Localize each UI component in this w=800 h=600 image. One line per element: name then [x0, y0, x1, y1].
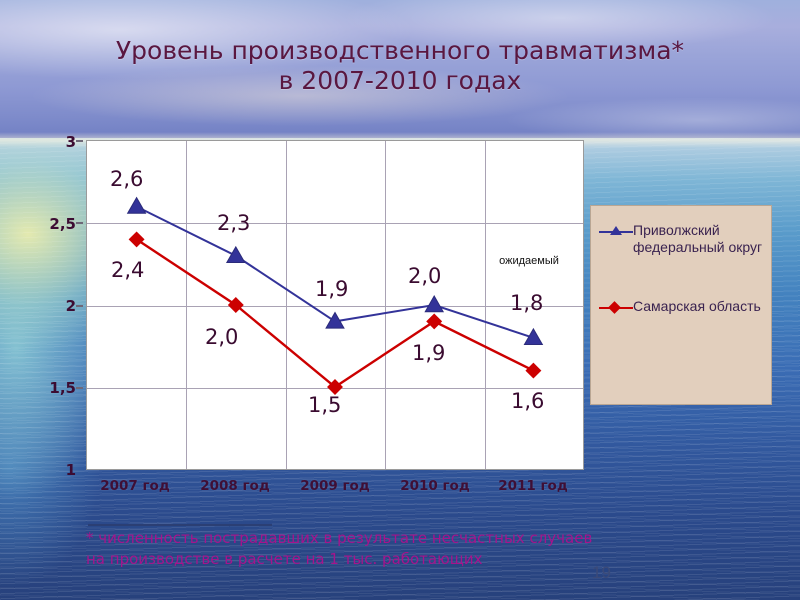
footnote-text: * численность пострадавших в результате …	[86, 528, 726, 570]
y-axis-label-2: 2	[16, 297, 76, 315]
legend-label-samarskaya: Самарская область	[633, 298, 761, 315]
annotation-expected: ожидаемый	[495, 255, 563, 268]
data-label-red-2007: 2,4	[111, 258, 144, 282]
slide-number: 19	[592, 563, 611, 583]
y-tick-2	[76, 305, 83, 307]
footnote-divider	[88, 524, 272, 526]
series-markers-privolzhsky	[128, 198, 543, 345]
data-label-blue-2011: 1,8	[510, 291, 543, 315]
y-tick-2.5	[76, 222, 83, 224]
y-tick-1.5	[76, 387, 83, 389]
x-axis-label-2008: 2008 год	[180, 478, 290, 494]
y-axis-label-3: 3	[16, 133, 76, 151]
legend-item-samarskaya: Самарская область	[599, 298, 763, 317]
y-axis-label-2.5: 2,5	[16, 215, 76, 233]
chart-series-svg	[87, 141, 583, 469]
data-label-red-2009: 1,5	[308, 393, 341, 417]
data-label-red-2008: 2,0	[205, 325, 238, 349]
x-axis-label-2007: 2007 год	[80, 478, 190, 494]
y-tick-3	[76, 140, 83, 142]
x-axis-label-2009: 2009 год	[280, 478, 390, 494]
data-label-red-2010: 1,9	[412, 341, 445, 365]
y-axis-label-1: 1	[16, 461, 76, 479]
data-label-blue-2009: 1,9	[315, 277, 348, 301]
slide: Уровень производственного травматизма* в…	[0, 0, 800, 600]
y-axis-label-1.5: 1,5	[16, 379, 76, 397]
chart-legend: Приволжский федеральный округ Самарская …	[590, 205, 772, 405]
x-axis-label-2010: 2010 год	[380, 478, 490, 494]
data-label-red-2011: 1,6	[511, 389, 544, 413]
legend-marker-diamond-icon	[599, 299, 633, 317]
data-label-blue-2010: 2,0	[408, 264, 441, 288]
page-title: Уровень производственного травматизма* в…	[60, 36, 740, 96]
legend-label-privolzhsky: Приволжский федеральный округ	[633, 222, 763, 256]
x-axis-label-2011: 2011 год	[478, 478, 588, 494]
data-label-blue-2007: 2,6	[110, 167, 143, 191]
data-label-blue-2008: 2,3	[217, 211, 250, 235]
legend-marker-triangle-icon	[599, 223, 633, 241]
legend-item-privolzhsky: Приволжский федеральный округ	[599, 222, 763, 256]
